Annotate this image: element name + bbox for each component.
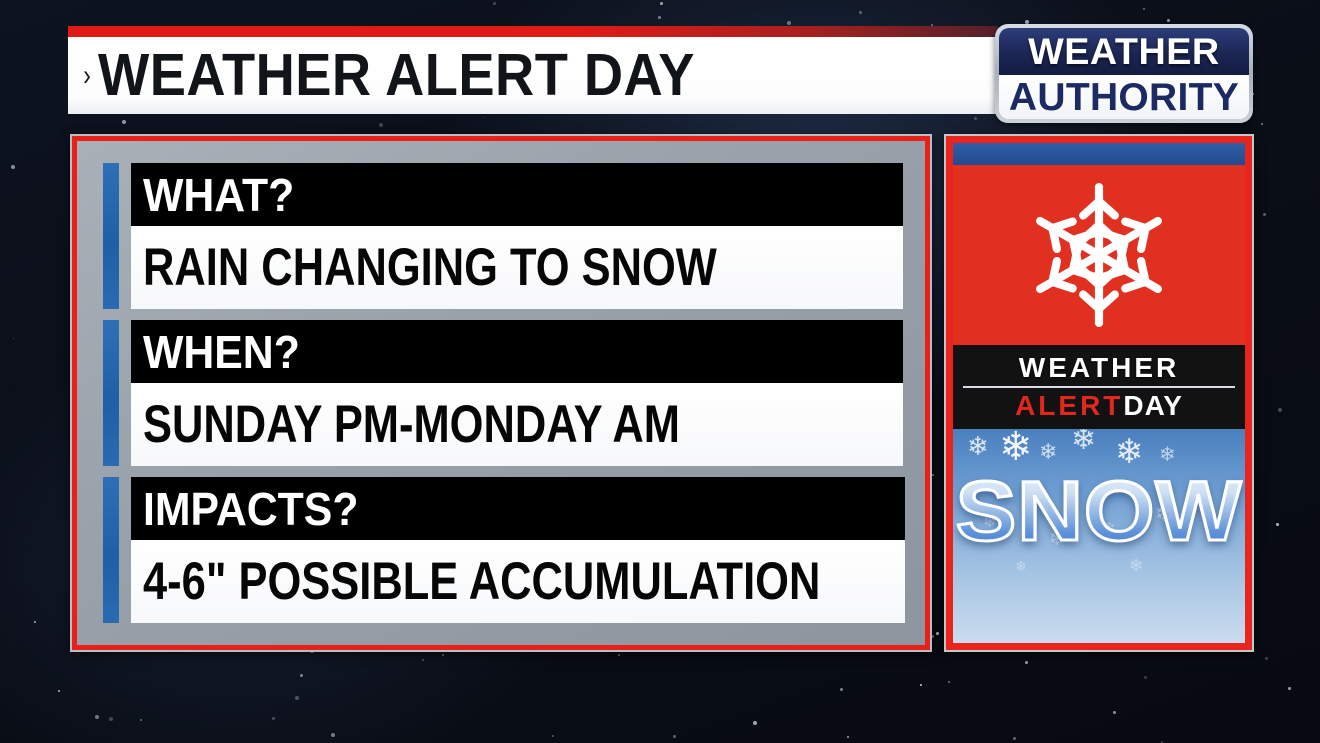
decorative-snowflake-icon: ❄ — [1159, 445, 1176, 465]
title-bar: › WEATHER ALERT DAY — [68, 26, 998, 114]
row-answer-text: RAIN CHANGING TO SNOW — [143, 241, 717, 294]
row-question-band: WHAT? — [131, 163, 903, 226]
row-body: WHEN? SUNDAY PM-MONDAY AM — [131, 320, 903, 466]
row-answer-band: RAIN CHANGING TO SNOW — [131, 226, 903, 309]
weather-alert-day-badge: WEATHER ALERTDAY — [953, 345, 1245, 429]
logo-weather-band: WEATHER — [999, 28, 1249, 75]
logo-authority-band: AUTHORITY — [999, 75, 1249, 119]
row-body: WHAT? RAIN CHANGING TO SNOW — [131, 163, 903, 309]
row-answer-text: 4-6" POSSIBLE ACCUMULATION — [143, 555, 820, 608]
alert-panel-red-frame: WHAT? RAIN CHANGING TO SNOW WHEN? SUNDAY… — [72, 136, 930, 650]
row-question-band: IMPACTS? — [131, 477, 905, 540]
alert-row-what: WHAT? RAIN CHANGING TO SNOW — [103, 163, 903, 309]
badge-alert-text: ALERT — [1015, 390, 1123, 421]
badge-day-text: DAY — [1123, 390, 1183, 421]
side-panel-red-frame: WEATHER ALERTDAY ❄❄❄❄❄❄❄❄❄❄❄❄ SNOW — [946, 136, 1252, 650]
row-question-text: WHEN? — [143, 329, 300, 375]
alert-panel: WHAT? RAIN CHANGING TO SNOW WHEN? SUNDAY… — [70, 134, 932, 652]
row-answer-band: 4-6" POSSIBLE ACCUMULATION — [131, 540, 905, 623]
logo-line-authority: AUTHORITY — [1009, 78, 1239, 117]
badge-alert-day-row: ALERTDAY — [961, 391, 1237, 421]
decorative-snowflake-icon: ❄ — [1015, 559, 1027, 573]
page-title: WEATHER ALERT DAY — [98, 46, 695, 105]
row-body: IMPACTS? 4-6" POSSIBLE ACCUMULATION — [131, 477, 905, 623]
weather-authority-logo: WEATHER AUTHORITY — [995, 24, 1253, 123]
side-panel-top-strip — [953, 143, 1245, 165]
snowflake-icon — [1020, 176, 1178, 334]
row-accent-bar — [103, 320, 119, 466]
alert-row-when: WHEN? SUNDAY PM-MONDAY AM — [103, 320, 903, 466]
logo-line-weather: WEATHER — [1028, 33, 1220, 70]
logo-inner: WEATHER AUTHORITY — [999, 28, 1249, 119]
row-answer-band: SUNDAY PM-MONDAY AM — [131, 383, 903, 466]
alert-row-impacts: IMPACTS? 4-6" POSSIBLE ACCUMULATION — [103, 477, 903, 623]
row-accent-bar — [103, 477, 119, 623]
row-question-band: WHEN? — [131, 320, 903, 383]
chevron-right-icon: › — [83, 61, 91, 91]
row-question-text: WHAT? — [143, 172, 294, 218]
snowflake-badge — [953, 165, 1245, 345]
decorative-snowflake-icon: ❄ — [999, 429, 1033, 467]
title-red-stripe — [68, 26, 998, 37]
title-content: › WEATHER ALERT DAY — [68, 37, 998, 114]
row-accent-bar — [103, 163, 119, 309]
snow-word-text: SNOW — [953, 463, 1245, 560]
row-question-text: IMPACTS? — [143, 486, 358, 532]
snow-graphic-area: ❄❄❄❄❄❄❄❄❄❄❄❄ SNOW — [953, 429, 1245, 643]
decorative-snowflake-icon: ❄ — [967, 433, 989, 459]
alert-rows: WHAT? RAIN CHANGING TO SNOW WHEN? SUNDAY… — [103, 163, 903, 623]
side-graphic-panel: WEATHER ALERTDAY ❄❄❄❄❄❄❄❄❄❄❄❄ SNOW — [944, 134, 1254, 652]
decorative-snowflake-icon: ❄ — [1071, 429, 1096, 455]
badge-divider — [963, 386, 1235, 388]
badge-weather-text: WEATHER — [961, 353, 1237, 383]
decorative-snowflake-icon: ❄ — [1039, 441, 1057, 463]
row-answer-text: SUNDAY PM-MONDAY AM — [143, 398, 680, 451]
